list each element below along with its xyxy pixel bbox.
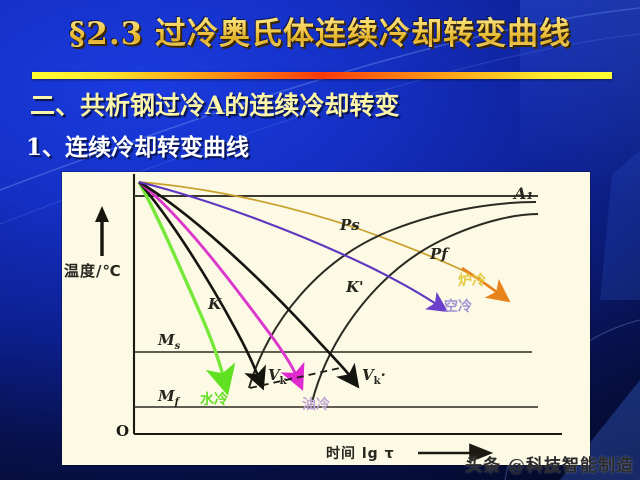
page-title: §2.3 过冷奥氏体连续冷却转变曲线: [0, 8, 640, 53]
title-divider: [32, 72, 612, 79]
watermark: 头条 @科技智能制造: [465, 451, 634, 476]
cct-diagram-panel: A₁ Ps Pf K K' MsMs Mf Vk Vk· 炉冷 空冷 水冷 油冷…: [62, 172, 590, 465]
curve-Pf-transformation-finish-lower: [312, 214, 538, 402]
yaxis-arrow-icon: [95, 206, 109, 256]
section-heading: 二、共析钢过冷A的连续冷却转变: [30, 86, 399, 122]
curve-critical-rate-vk: [139, 182, 258, 376]
curve-Pf-transformation-finish-upper: [249, 202, 536, 388]
slide-root: §2.3 过冷奥氏体连续冷却转变曲线 二、共析钢过冷A的连续冷却转变 1、连续冷…: [0, 0, 640, 480]
chart-axes: [95, 174, 562, 434]
cct-diagram-svg: [62, 172, 590, 465]
curve-cooling-furnace: [462, 268, 498, 293]
subsection-heading: 1、连续冷却转变曲线: [26, 128, 249, 162]
